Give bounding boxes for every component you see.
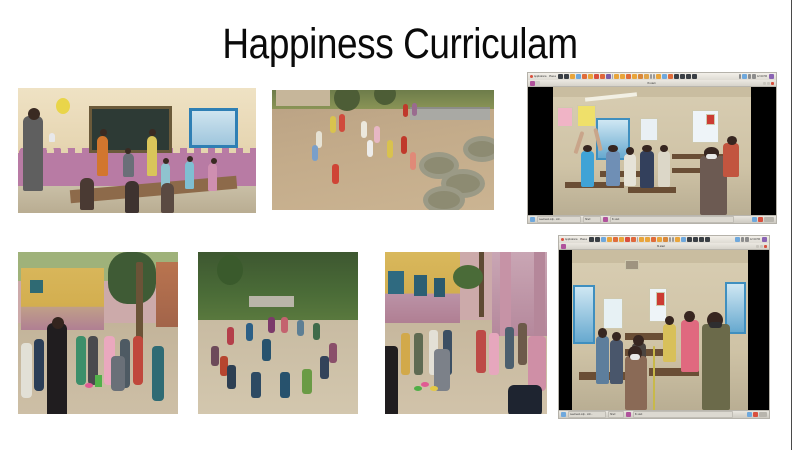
ceiling xyxy=(553,87,751,97)
toy-ring-pink xyxy=(421,382,429,387)
app-icon[interactable] xyxy=(705,237,710,242)
app-icon[interactable] xyxy=(680,74,685,79)
tray-icon[interactable] xyxy=(753,412,758,417)
app-icon[interactable] xyxy=(681,237,686,242)
desktop-taskbar: weebweb.odp - Libr... Shell fb.start xyxy=(559,410,769,418)
student-side xyxy=(723,143,739,176)
window xyxy=(414,275,427,296)
app-icon[interactable] xyxy=(674,74,679,79)
start-menu-icon[interactable] xyxy=(561,412,566,417)
pole xyxy=(653,346,656,410)
app-icon[interactable] xyxy=(638,74,643,79)
adjacent-building xyxy=(156,262,178,327)
child xyxy=(330,116,336,133)
child xyxy=(387,140,393,158)
poster xyxy=(557,107,573,127)
app-icon[interactable] xyxy=(699,237,704,242)
taskbar-item[interactable]: fb.start xyxy=(610,216,734,223)
child xyxy=(297,320,304,336)
face-mask xyxy=(709,322,721,328)
student xyxy=(596,336,608,384)
app-icon[interactable] xyxy=(687,237,692,242)
child xyxy=(21,343,32,398)
desktop-screenshot-classroom-activity: Applications Places xyxy=(558,235,770,419)
show-desktop-icon[interactable] xyxy=(764,217,774,222)
classroom-photo-inner xyxy=(553,87,751,215)
close-button[interactable] xyxy=(771,82,774,85)
child xyxy=(410,152,416,170)
child xyxy=(34,339,44,391)
window-title: fb.start xyxy=(566,243,756,250)
person-foreground-left xyxy=(385,346,398,414)
user-menu-icon[interactable] xyxy=(769,74,774,79)
student-yellow xyxy=(663,324,675,362)
teacher-black-kurta xyxy=(47,323,67,414)
child xyxy=(251,372,261,398)
student xyxy=(606,151,620,186)
open-ground-circle-photo xyxy=(198,252,358,414)
app-icon[interactable] xyxy=(663,237,668,242)
child-foreground-right xyxy=(528,336,546,391)
screenshot-image-canvas xyxy=(559,250,769,410)
app-icon[interactable] xyxy=(693,237,698,242)
child xyxy=(312,145,318,161)
child-bending xyxy=(434,349,450,391)
child xyxy=(403,104,408,117)
person-standing-woman xyxy=(147,136,157,176)
network-icon[interactable] xyxy=(735,237,740,242)
child-green-shirt xyxy=(302,369,312,394)
raised-arm xyxy=(573,130,584,153)
window-icon[interactable] xyxy=(603,217,608,222)
app-icon[interactable] xyxy=(625,237,630,242)
volume-icon[interactable] xyxy=(741,237,744,242)
battery-icon[interactable] xyxy=(752,74,756,79)
pillar xyxy=(500,252,511,336)
child xyxy=(412,103,417,116)
child xyxy=(339,114,345,132)
child-red-dress xyxy=(476,330,486,374)
phone-in-hand xyxy=(49,133,55,142)
window xyxy=(434,278,445,297)
app-icon[interactable] xyxy=(607,237,612,242)
app-icon[interactable] xyxy=(651,237,656,242)
head xyxy=(665,316,674,326)
poster xyxy=(640,118,658,142)
green-cone-toy xyxy=(95,375,102,387)
app-icon[interactable] xyxy=(675,237,680,242)
child-teal-dress xyxy=(152,346,164,401)
head xyxy=(211,158,217,164)
child-foreground xyxy=(80,178,94,210)
app-icon[interactable] xyxy=(606,74,611,79)
child xyxy=(227,365,236,389)
school-courtyard-activity-photo xyxy=(18,252,178,414)
foliage xyxy=(453,265,483,289)
app-icon[interactable] xyxy=(672,237,674,242)
app-icon[interactable] xyxy=(686,74,691,79)
taskbar-tray xyxy=(747,412,767,417)
app-icon[interactable] xyxy=(620,74,625,79)
ceiling xyxy=(572,250,748,263)
app-icon[interactable] xyxy=(645,237,650,242)
child xyxy=(401,136,407,154)
student xyxy=(610,340,622,385)
app-icon[interactable] xyxy=(669,237,671,242)
child xyxy=(313,323,320,340)
app-icon[interactable] xyxy=(570,74,575,79)
desktop-taskbar: weebweb.odp - Libr... Shell fb.start xyxy=(528,215,776,223)
tray-icon[interactable] xyxy=(758,217,763,222)
app-icon[interactable] xyxy=(626,74,631,79)
tray-icon[interactable] xyxy=(752,217,757,222)
child xyxy=(374,126,380,143)
person-foreground-bottom xyxy=(508,385,542,414)
corridor-play-photo xyxy=(385,252,547,414)
maximize-button[interactable] xyxy=(760,245,763,248)
app-icon[interactable] xyxy=(639,237,644,242)
app-icon[interactable] xyxy=(668,74,673,79)
system-menu-icon[interactable] xyxy=(530,75,533,78)
head xyxy=(52,317,64,329)
tray-icon[interactable] xyxy=(747,412,752,417)
close-button[interactable] xyxy=(764,245,767,248)
student-hand-raised xyxy=(581,151,595,187)
child-pink-dress xyxy=(489,333,499,375)
app-icon[interactable] xyxy=(601,237,606,242)
taskbar-tray xyxy=(752,217,774,222)
app-icon[interactable] xyxy=(653,74,655,79)
head xyxy=(684,311,695,322)
app-icon[interactable] xyxy=(582,74,587,79)
head xyxy=(727,136,737,145)
taskbar-item[interactable]: Shell xyxy=(583,216,601,223)
app-icon[interactable] xyxy=(564,74,569,79)
window-titlebar[interactable]: fb.start xyxy=(559,243,769,250)
photo-5-content xyxy=(198,252,358,414)
classroom-session-photo xyxy=(18,88,256,213)
app-icon[interactable] xyxy=(594,74,599,79)
child xyxy=(281,317,288,333)
app-icon[interactable] xyxy=(600,74,605,79)
head xyxy=(633,335,644,346)
child xyxy=(76,336,86,385)
window xyxy=(573,285,595,343)
minimize-button[interactable] xyxy=(756,245,759,248)
balloon xyxy=(56,98,70,114)
child xyxy=(329,343,337,363)
volume-icon[interactable] xyxy=(748,74,751,79)
child xyxy=(320,356,329,379)
child-foreground xyxy=(125,181,139,213)
window xyxy=(388,271,404,294)
outdoor-playground-photo xyxy=(272,90,494,210)
child xyxy=(505,327,514,369)
child-red-shirt xyxy=(133,336,143,385)
app-icon[interactable] xyxy=(595,237,600,242)
window-buttons xyxy=(756,245,767,248)
tyre-planter xyxy=(463,136,494,162)
head xyxy=(612,332,621,342)
person-foreground-left xyxy=(23,116,43,191)
person-seated xyxy=(123,153,134,177)
child xyxy=(414,333,423,375)
shed-roof xyxy=(410,107,490,120)
child-foreground xyxy=(625,356,648,410)
maximize-button[interactable] xyxy=(767,82,770,85)
minimize-button[interactable] xyxy=(763,82,766,85)
notification-icon[interactable] xyxy=(739,74,741,79)
start-menu-icon[interactable] xyxy=(530,217,535,222)
child xyxy=(227,327,234,345)
app-icon[interactable] xyxy=(619,237,624,242)
system-menu-icon[interactable] xyxy=(561,238,564,241)
window-titlebar[interactable]: fb.start xyxy=(528,80,776,87)
desktop-screenshot-classroom-hands-raised: Applications Places xyxy=(527,72,777,224)
child xyxy=(280,372,290,398)
photo-6-content xyxy=(385,252,547,414)
window xyxy=(189,108,238,148)
photo-4-content xyxy=(18,252,178,414)
poster xyxy=(656,292,665,307)
app-icon[interactable] xyxy=(589,237,594,242)
child-blue-kurta xyxy=(262,339,271,361)
head xyxy=(642,145,652,153)
head xyxy=(598,328,607,338)
screenshot-image-canvas xyxy=(528,87,776,215)
child xyxy=(185,161,194,189)
app-icon[interactable] xyxy=(631,237,636,242)
building xyxy=(276,90,329,106)
child xyxy=(518,323,527,365)
tyre-planter xyxy=(423,186,465,210)
teacher-pink-shirt xyxy=(681,320,699,371)
separator-icon xyxy=(637,237,638,242)
child xyxy=(211,346,219,366)
pillar xyxy=(534,252,545,336)
desk xyxy=(625,333,664,339)
head xyxy=(626,147,634,155)
window-title: fb.start xyxy=(540,80,763,87)
app-icon[interactable] xyxy=(614,74,619,79)
head xyxy=(28,108,40,120)
child xyxy=(332,164,339,184)
taskbar-item[interactable]: weebweb.odp - Libr... xyxy=(568,411,606,418)
separator-icon xyxy=(612,74,613,79)
child xyxy=(208,163,217,191)
taskbar-item[interactable]: fb.start xyxy=(633,411,733,418)
network-icon[interactable] xyxy=(742,74,747,79)
app-icon[interactable] xyxy=(588,74,593,79)
show-desktop-icon[interactable] xyxy=(759,412,767,417)
student xyxy=(624,154,636,186)
person-standing-teacher xyxy=(97,136,108,176)
app-icon[interactable] xyxy=(558,74,563,79)
child xyxy=(246,323,253,341)
ceiling-fan xyxy=(625,260,639,270)
poster xyxy=(706,114,716,125)
app-icon[interactable] xyxy=(613,237,618,242)
app-icon[interactable] xyxy=(632,74,637,79)
teacher-foreground xyxy=(702,324,730,410)
child xyxy=(367,140,373,157)
classroom-photo-inner xyxy=(572,250,748,410)
app-icon[interactable] xyxy=(644,74,649,79)
child-foreground xyxy=(161,183,174,213)
head xyxy=(660,145,668,153)
app-icon[interactable] xyxy=(692,74,697,79)
window-buttons xyxy=(763,82,774,85)
poster xyxy=(603,298,623,329)
head xyxy=(187,156,193,162)
app-icon[interactable] xyxy=(576,74,581,79)
presentation-slide: Happiness Curriculam xyxy=(0,0,800,450)
app-icon[interactable] xyxy=(657,237,662,242)
window-icon[interactable] xyxy=(626,412,631,417)
child-crouching xyxy=(111,356,125,392)
tree xyxy=(108,252,156,304)
taskbar-item[interactable]: weebweb.odp - Libr... xyxy=(537,216,581,223)
child xyxy=(268,317,275,333)
photo-2-content xyxy=(272,90,494,210)
taskbar-item[interactable]: Shell xyxy=(608,411,624,418)
page-title: Happiness Curriculam xyxy=(56,18,744,70)
face-mask xyxy=(706,154,718,159)
photo-1-content xyxy=(18,88,256,213)
child xyxy=(401,333,410,375)
shelter-roof xyxy=(249,296,294,307)
app-icon[interactable] xyxy=(656,74,661,79)
child xyxy=(361,121,367,138)
app-icon[interactable] xyxy=(662,74,667,79)
door xyxy=(30,280,43,292)
student xyxy=(658,151,670,187)
user-menu-icon[interactable] xyxy=(762,237,767,242)
student xyxy=(640,151,654,188)
battery-icon[interactable] xyxy=(745,237,749,242)
poster xyxy=(577,105,597,127)
slide-right-edge xyxy=(791,0,792,450)
app-icon[interactable] xyxy=(650,74,652,79)
